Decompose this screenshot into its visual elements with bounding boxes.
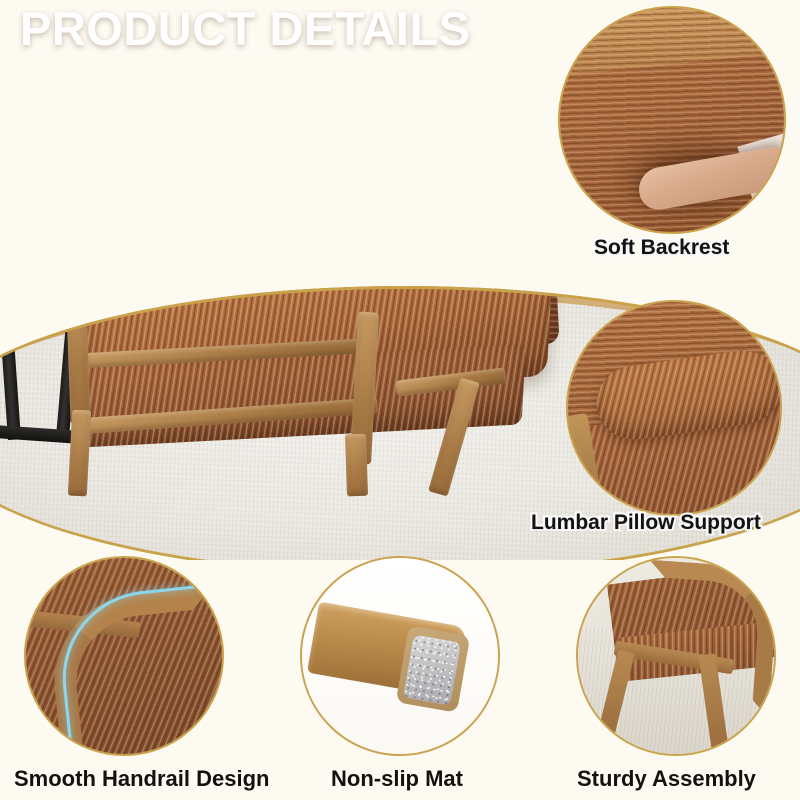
armchair-product xyxy=(96,78,566,498)
coffee-mug xyxy=(6,166,50,196)
callout-non-slip-mat[interactable] xyxy=(300,556,500,756)
callout-label-non-slip-mat: Non-slip Mat xyxy=(331,766,463,792)
product-details-page: FOLLOW xyxy=(0,0,800,800)
callout-label-sturdy-assembly: Sturdy Assembly xyxy=(577,766,756,792)
callout-soft-backrest[interactable] xyxy=(558,6,786,234)
callout-label-smooth-handrail-design: Smooth Handrail Design xyxy=(14,766,269,792)
callout-non-slip-mat-image xyxy=(302,558,498,754)
chair-right-armrest xyxy=(93,186,249,314)
callout-label-lumbar-pillow-support: Lumbar Pillow Support xyxy=(531,511,761,535)
chair-front-right-leg xyxy=(345,434,368,497)
callout-sturdy-assembly[interactable] xyxy=(576,556,776,756)
callout-sturdy-assembly-image xyxy=(578,558,774,754)
callout-smooth-handrail-image xyxy=(26,558,222,754)
callout-lumbar-pillow-image xyxy=(568,302,780,514)
side-table-leg xyxy=(0,210,21,440)
callout-label-soft-backrest: Soft Backrest xyxy=(594,236,729,260)
callout-lumbar-pillow-support[interactable] xyxy=(566,300,782,516)
page-title: PRODUCT DETAILS xyxy=(20,4,471,53)
callout-soft-backrest-image xyxy=(560,8,784,232)
chair-left-armrest xyxy=(92,74,228,195)
callout-smooth-handrail-design[interactable] xyxy=(24,556,224,756)
